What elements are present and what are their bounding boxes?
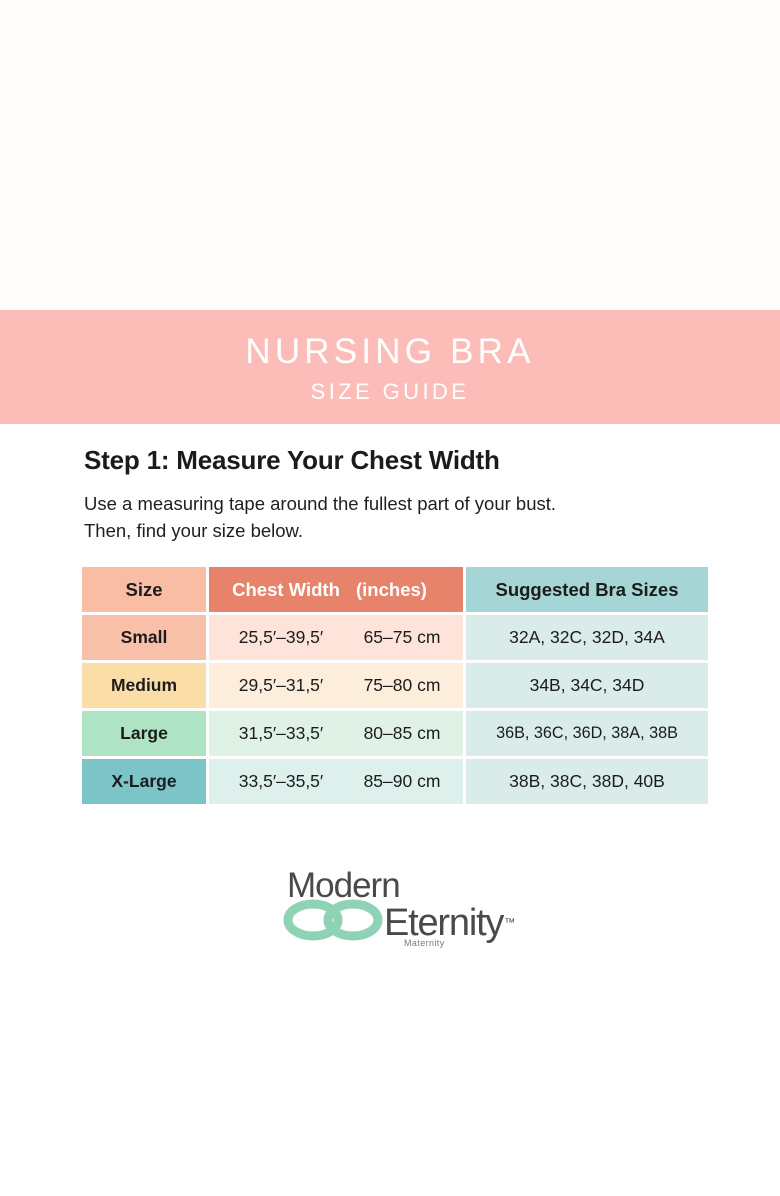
size-table: Size Chest Width (inches) Suggested Bra … (82, 567, 708, 804)
cell-bra-sizes: 38B, 38C, 38D, 40B (466, 759, 708, 804)
table-row: Large 31,5′–33,5′ 80–85 cm 36B, 36C, 36D… (82, 711, 708, 756)
column-header-bra-sizes: Suggested Bra Sizes (466, 567, 708, 612)
instruction-line-2: Then, find your size below. (84, 517, 704, 544)
infinity-icon (282, 898, 386, 947)
logo-tagline: Maternity (404, 938, 445, 948)
header-banner: NURSING BRA SIZE GUIDE (0, 310, 780, 424)
cell-chest-cm: 80–85 cm (347, 723, 457, 744)
cell-chest-inches: 33,5′–35,5′ (215, 771, 347, 792)
cell-chest-cm: 65–75 cm (347, 627, 457, 648)
cell-chest-inches: 29,5′–31,5′ (215, 675, 347, 696)
cell-chest-inches: 25,5′–39,5′ (215, 627, 347, 648)
table-row: Medium 29,5′–31,5′ 75–80 cm 34B, 34C, 34… (82, 663, 708, 708)
cell-size: Large (82, 711, 206, 756)
cell-size: X-Large (82, 759, 206, 804)
table-header-row: Size Chest Width (inches) Suggested Bra … (82, 567, 708, 612)
size-guide-page: NURSING BRA SIZE GUIDE Step 1: Measure Y… (0, 0, 780, 1196)
cell-chest-width: 33,5′–35,5′ 85–90 cm (209, 759, 463, 804)
cell-chest-width: 29,5′–31,5′ 75–80 cm (209, 663, 463, 708)
logo-word-eternity: Eternity (384, 904, 503, 942)
cell-bra-sizes: 34B, 34C, 34D (466, 663, 708, 708)
column-header-chest-units: (inches) (356, 579, 456, 601)
cell-size: Small (82, 615, 206, 660)
banner-subtitle: SIZE GUIDE (311, 380, 470, 404)
instruction-line-1: Use a measuring tape around the fullest … (84, 490, 704, 517)
banner-title: NURSING BRA (245, 334, 534, 371)
table-row: Small 25,5′–39,5′ 65–75 cm 32A, 32C, 32D… (82, 615, 708, 660)
cell-chest-width: 31,5′–33,5′ 80–85 cm (209, 711, 463, 756)
cell-chest-cm: 75–80 cm (347, 675, 457, 696)
step-instructions: Use a measuring tape around the fullest … (84, 490, 704, 544)
table-row: X-Large 33,5′–35,5′ 85–90 cm 38B, 38C, 3… (82, 759, 708, 804)
column-header-size: Size (82, 567, 206, 612)
column-header-chest-label: Chest Width (216, 579, 356, 601)
cell-size: Medium (82, 663, 206, 708)
trademark-icon: ™ (504, 917, 515, 929)
cell-chest-cm: 85–90 cm (347, 771, 457, 792)
brand-logo: Modern Eternity ™ Maternity (0, 868, 780, 954)
step-heading: Step 1: Measure Your Chest Width (84, 445, 500, 476)
cell-chest-inches: 31,5′–33,5′ (215, 723, 347, 744)
cell-bra-sizes: 36B, 36C, 36D, 38A, 38B (466, 711, 708, 756)
cell-chest-width: 25,5′–39,5′ 65–75 cm (209, 615, 463, 660)
column-header-chest-width: Chest Width (inches) (209, 567, 463, 612)
cell-bra-sizes: 32A, 32C, 32D, 34A (466, 615, 708, 660)
